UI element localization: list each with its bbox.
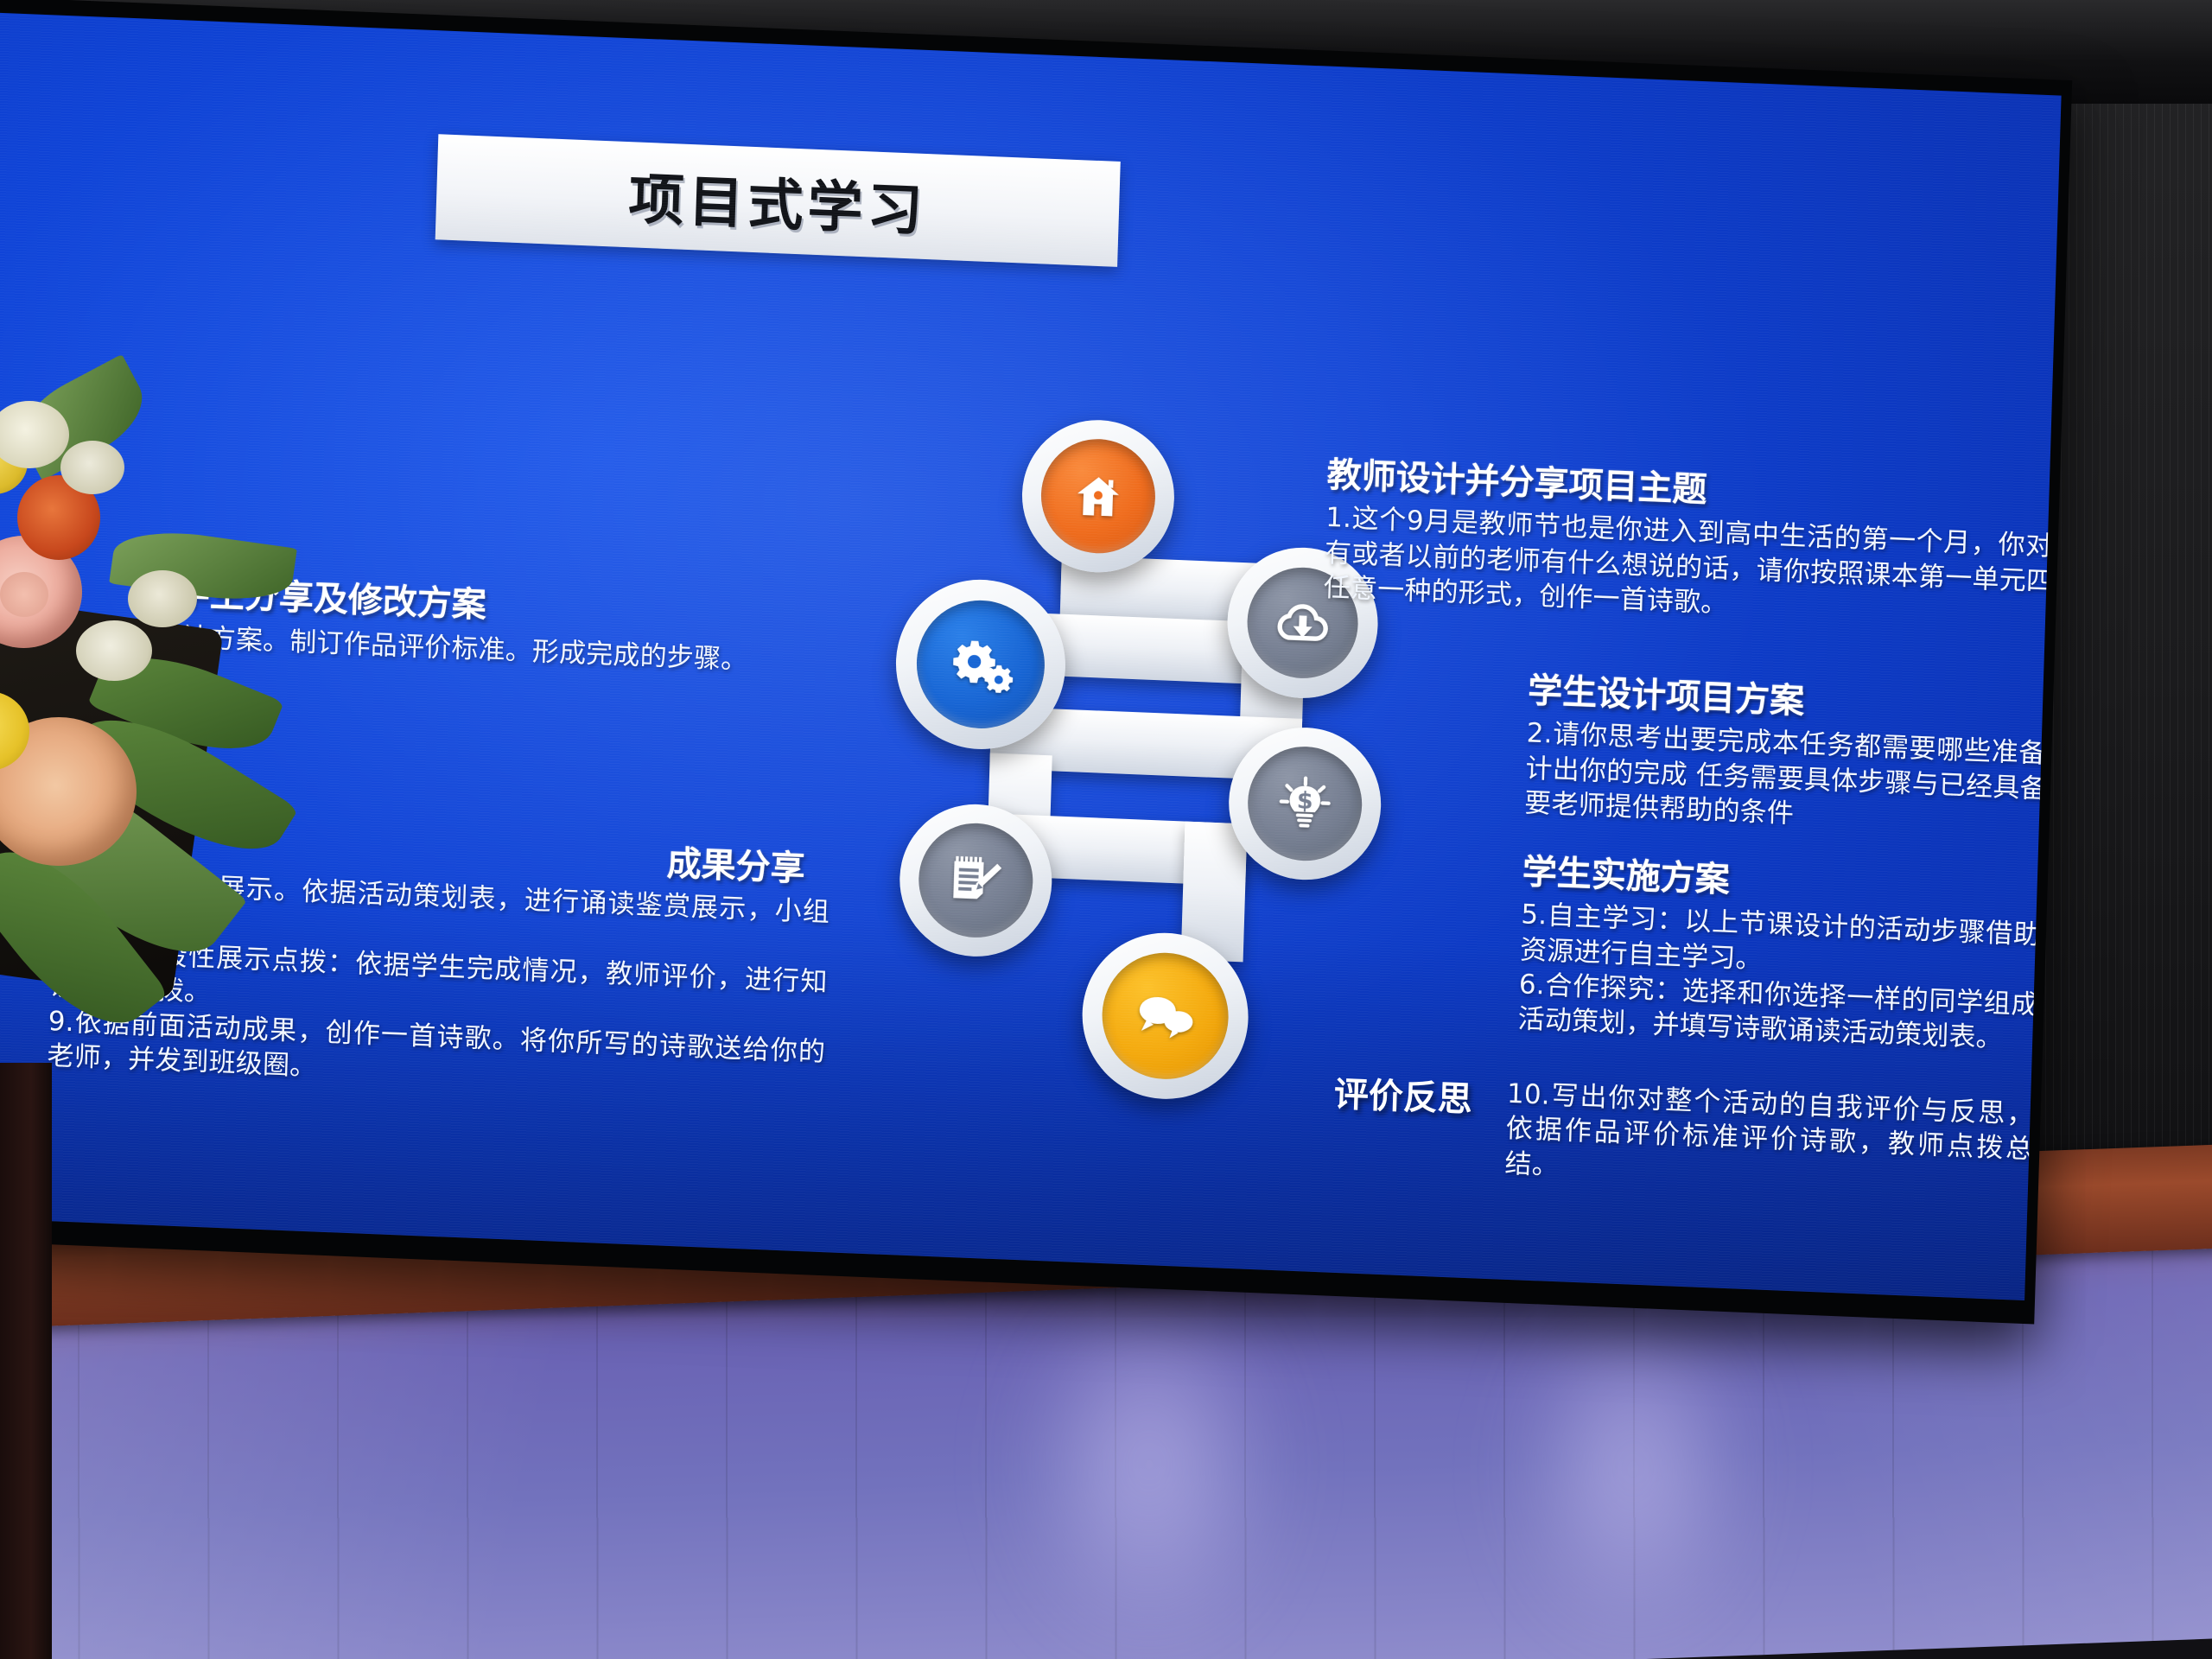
slide-title-bar: 项目式学习 <box>435 134 1121 267</box>
notepad-pencil-icon <box>946 853 1005 909</box>
chat-bubbles-icon <box>1129 988 1202 1043</box>
left-pillar <box>0 1063 52 1659</box>
floor-light-spot-1 <box>1020 1279 1279 1650</box>
flower-white-daisy-4 <box>128 570 197 627</box>
body-evaluation-reflection: 10.写出你对整个活动的自我评价与反思，依据作品评价标准评价诗歌，教师点拨总结。 <box>1504 1077 2034 1202</box>
lightbulb-dollar-icon: $ <box>1275 774 1334 834</box>
home-icon <box>1069 469 1128 524</box>
flower-rose-center <box>0 572 48 617</box>
node-gears-inner <box>915 598 1046 731</box>
body-student-implement: 5.自主学习：以上节课设计的活动步骤借助老师提供的资源进行自主学习。 6.合作探… <box>1517 898 2062 1064</box>
auditorium-scene: 项目式学习 <box>0 0 2212 1659</box>
body-teacher-design: 1.这个9月是教师节也是你进入到高中生活的第一个月，你对现在的老师有或者以前的老… <box>1323 500 2061 639</box>
block-teacher-design: 教师设计并分享项目主题 1.这个9月是教师节也是你进入到高中生活的第一个月，你对… <box>1323 455 2061 639</box>
node-chat-inner <box>1100 950 1230 1082</box>
block-student-implement: 学生实施方案 5.自主学习：以上节课设计的活动步骤借助老师提供的资源进行自主学习… <box>1517 852 2062 1063</box>
node-bulb-inner: $ <box>1246 745 1363 863</box>
node-home[interactable] <box>1020 417 1176 575</box>
body-student-design: 2.请你思考出要完成本任务都需要哪些准备和条件，设计出你的完成 任务需要具体步骤… <box>1524 716 2062 847</box>
gears-icon <box>943 635 1019 693</box>
flower-bouquet <box>0 406 372 1011</box>
node-home-inner <box>1039 437 1157 556</box>
node-notepad-inner <box>917 821 1034 939</box>
floor-light-spot-2 <box>1521 1296 1745 1642</box>
page-title: 项目式学习 <box>627 155 928 246</box>
block-student-design: 学生设计项目方案 2.请你思考出要完成本任务都需要哪些准备和条件，设计出你的完成… <box>1524 671 2062 847</box>
cloud-download-icon <box>1272 598 1334 647</box>
flower-white-daisy-2 <box>60 441 124 494</box>
block-evaluation-reflection: 评价反思 10.写出你对整个活动的自我评价与反思，依据作品评价标准评价诗歌，教师… <box>1332 1070 2062 1207</box>
svg-text:$: $ <box>1296 787 1313 815</box>
heading-evaluation-reflection: 评价反思 <box>1332 1070 1473 1179</box>
flower-white-daisy-3 <box>76 620 152 681</box>
